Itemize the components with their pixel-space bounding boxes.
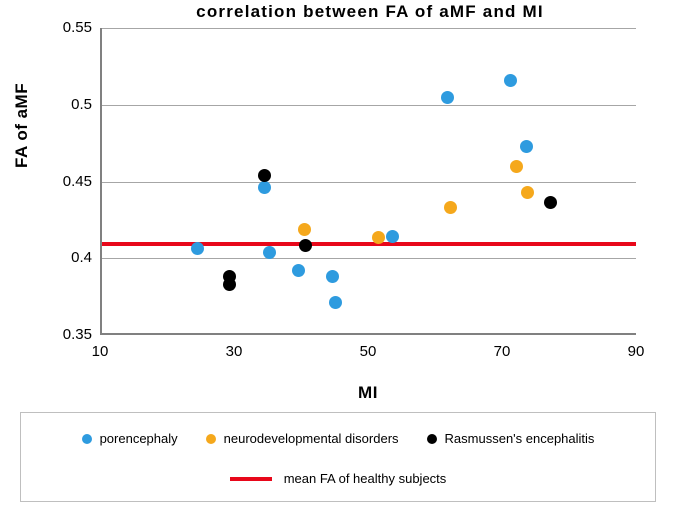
gridline [102, 258, 636, 259]
legend-row-series: porencephalyneurodevelopmental disorders… [21, 431, 655, 446]
data-point [299, 239, 312, 252]
legend-item[interactable]: mean FA of healthy subjects [230, 471, 447, 486]
chart-title: correlation between FA of aMF and MI [100, 2, 640, 22]
x-tick-label: 70 [472, 343, 532, 360]
data-point [258, 169, 271, 182]
y-tick-label: 0.4 [36, 249, 92, 266]
legend-line-marker [230, 477, 272, 481]
chart-page: correlation between FA of aMF and MI 0.5… [0, 0, 676, 520]
x-tick-label: 10 [70, 343, 130, 360]
gridline [102, 182, 636, 183]
data-point [441, 91, 454, 104]
y-tick-label: 0.5 [36, 96, 92, 113]
plot-area [100, 28, 636, 335]
legend-dot-marker [82, 434, 92, 444]
data-point [510, 160, 523, 173]
legend-item[interactable]: porencephaly [82, 431, 178, 446]
legend-dot-marker [206, 434, 216, 444]
x-tick-label: 90 [606, 343, 666, 360]
data-point [223, 278, 236, 291]
data-point [372, 231, 385, 244]
legend-label: mean FA of healthy subjects [284, 471, 447, 486]
data-point [544, 196, 557, 209]
y-tick-label: 0.55 [36, 19, 92, 36]
data-point [326, 270, 339, 283]
legend: porencephalyneurodevelopmental disorders… [20, 412, 656, 502]
data-point [292, 264, 305, 277]
legend-item[interactable]: Rasmussen's encephalitis [427, 431, 595, 446]
x-tick-label: 50 [338, 343, 398, 360]
data-point [258, 181, 271, 194]
legend-label: neurodevelopmental disorders [224, 431, 399, 446]
legend-item[interactable]: neurodevelopmental disorders [206, 431, 399, 446]
data-point [504, 74, 517, 87]
data-point [329, 296, 342, 309]
legend-label: porencephaly [100, 431, 178, 446]
mean-reference-line [102, 242, 636, 246]
gridline [102, 28, 636, 29]
legend-dot-marker [427, 434, 437, 444]
y-axis-title: FA of aMF [12, 83, 32, 168]
y-tick-label: 0.45 [36, 173, 92, 190]
x-axis-title: MI [100, 383, 636, 403]
data-point [444, 201, 457, 214]
data-point [191, 242, 204, 255]
legend-row-reference: mean FA of healthy subjects [21, 471, 655, 486]
legend-label: Rasmussen's encephalitis [445, 431, 595, 446]
y-tick-label: 0.35 [36, 326, 92, 343]
data-point [521, 186, 534, 199]
data-point [520, 140, 533, 153]
data-point [298, 223, 311, 236]
data-point [386, 230, 399, 243]
gridline [102, 105, 636, 106]
x-tick-label: 30 [204, 343, 264, 360]
